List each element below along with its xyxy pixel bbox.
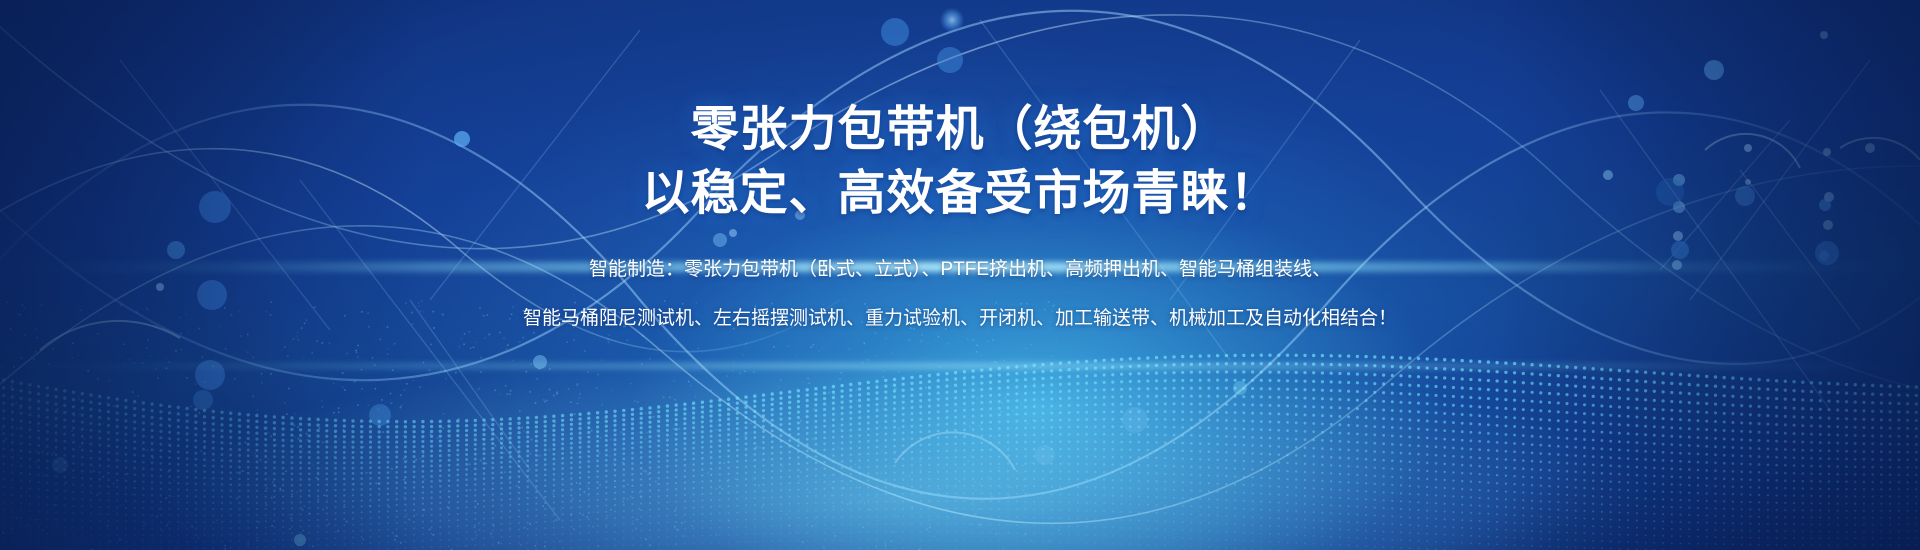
- subtitle-line-1: 智能制造：零张力包带机（卧式、立式）、PTFE挤出机、高频押出机、智能马桶组装线…: [589, 260, 1331, 279]
- headline-line-2: 以稳定、高效备受市场青睐！: [641, 170, 1278, 218]
- promo-banner: 零张力包带机（绕包机） 以稳定、高效备受市场青睐！ 智能制造：零张力包带机（卧式…: [0, 0, 1920, 550]
- subtitle-line-2: 智能马桶阻尼测试机、左右摇摆测试机、重力试验机、开闭机、加工输送带、机械加工及自…: [523, 309, 1397, 328]
- headline-line-1: 零张力包带机（绕包机）: [690, 106, 1229, 154]
- banner-content: 零张力包带机（绕包机） 以稳定、高效备受市场青睐！ 智能制造：零张力包带机（卧式…: [0, 0, 1920, 550]
